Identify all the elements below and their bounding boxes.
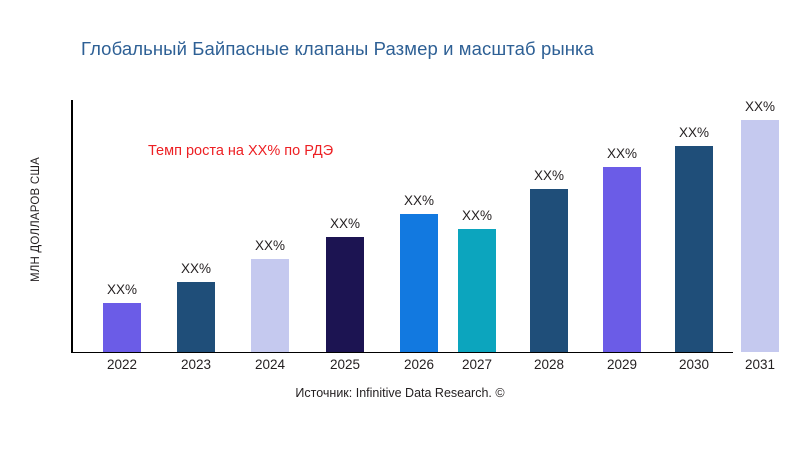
bar-2031 <box>741 120 779 352</box>
growth-rate-annotation: Темп роста на XX% по РДЭ <box>148 143 333 159</box>
source-note: Источник: Infinitive Data Research. © <box>295 386 504 400</box>
x-tick-label-2026: 2026 <box>404 357 434 372</box>
x-tick-label-2023: 2023 <box>181 357 211 372</box>
bar-2025 <box>326 237 364 352</box>
x-tick-label-2022: 2022 <box>107 357 137 372</box>
x-tick-label-2028: 2028 <box>534 357 564 372</box>
x-tick-label-2027: 2027 <box>462 357 492 372</box>
bar-value-label-2024: XX% <box>255 238 285 253</box>
bar-value-label-2022: XX% <box>107 282 137 297</box>
bar-value-label-2030: XX% <box>679 125 709 140</box>
x-tick-label-2030: 2030 <box>679 357 709 372</box>
x-tick-label-2029: 2029 <box>607 357 637 372</box>
x-tick-label-2025: 2025 <box>330 357 360 372</box>
plot-area: XX%2022XX%2023XX%2024XX%2025XX%2026XX%20… <box>0 0 800 450</box>
bar-2029 <box>603 167 641 352</box>
bar-value-label-2025: XX% <box>330 216 360 231</box>
bar-2022 <box>103 303 141 352</box>
bar-2023 <box>177 282 215 352</box>
bar-value-label-2029: XX% <box>607 146 637 161</box>
bar-value-label-2026: XX% <box>404 193 434 208</box>
bar-value-label-2023: XX% <box>181 261 211 276</box>
bar-2030 <box>675 146 713 352</box>
x-tick-label-2031: 2031 <box>745 357 775 372</box>
chart-container: Глобальный Байпасные клапаны Размер и ма… <box>0 0 800 450</box>
bar-value-label-2028: XX% <box>534 168 564 183</box>
bar-value-label-2027: XX% <box>462 208 492 223</box>
bar-2024 <box>251 259 289 352</box>
x-tick-label-2024: 2024 <box>255 357 285 372</box>
bar-value-label-2031: XX% <box>745 99 775 114</box>
bar-2026 <box>400 214 438 352</box>
bar-2028 <box>530 189 568 352</box>
bar-2027 <box>458 229 496 352</box>
